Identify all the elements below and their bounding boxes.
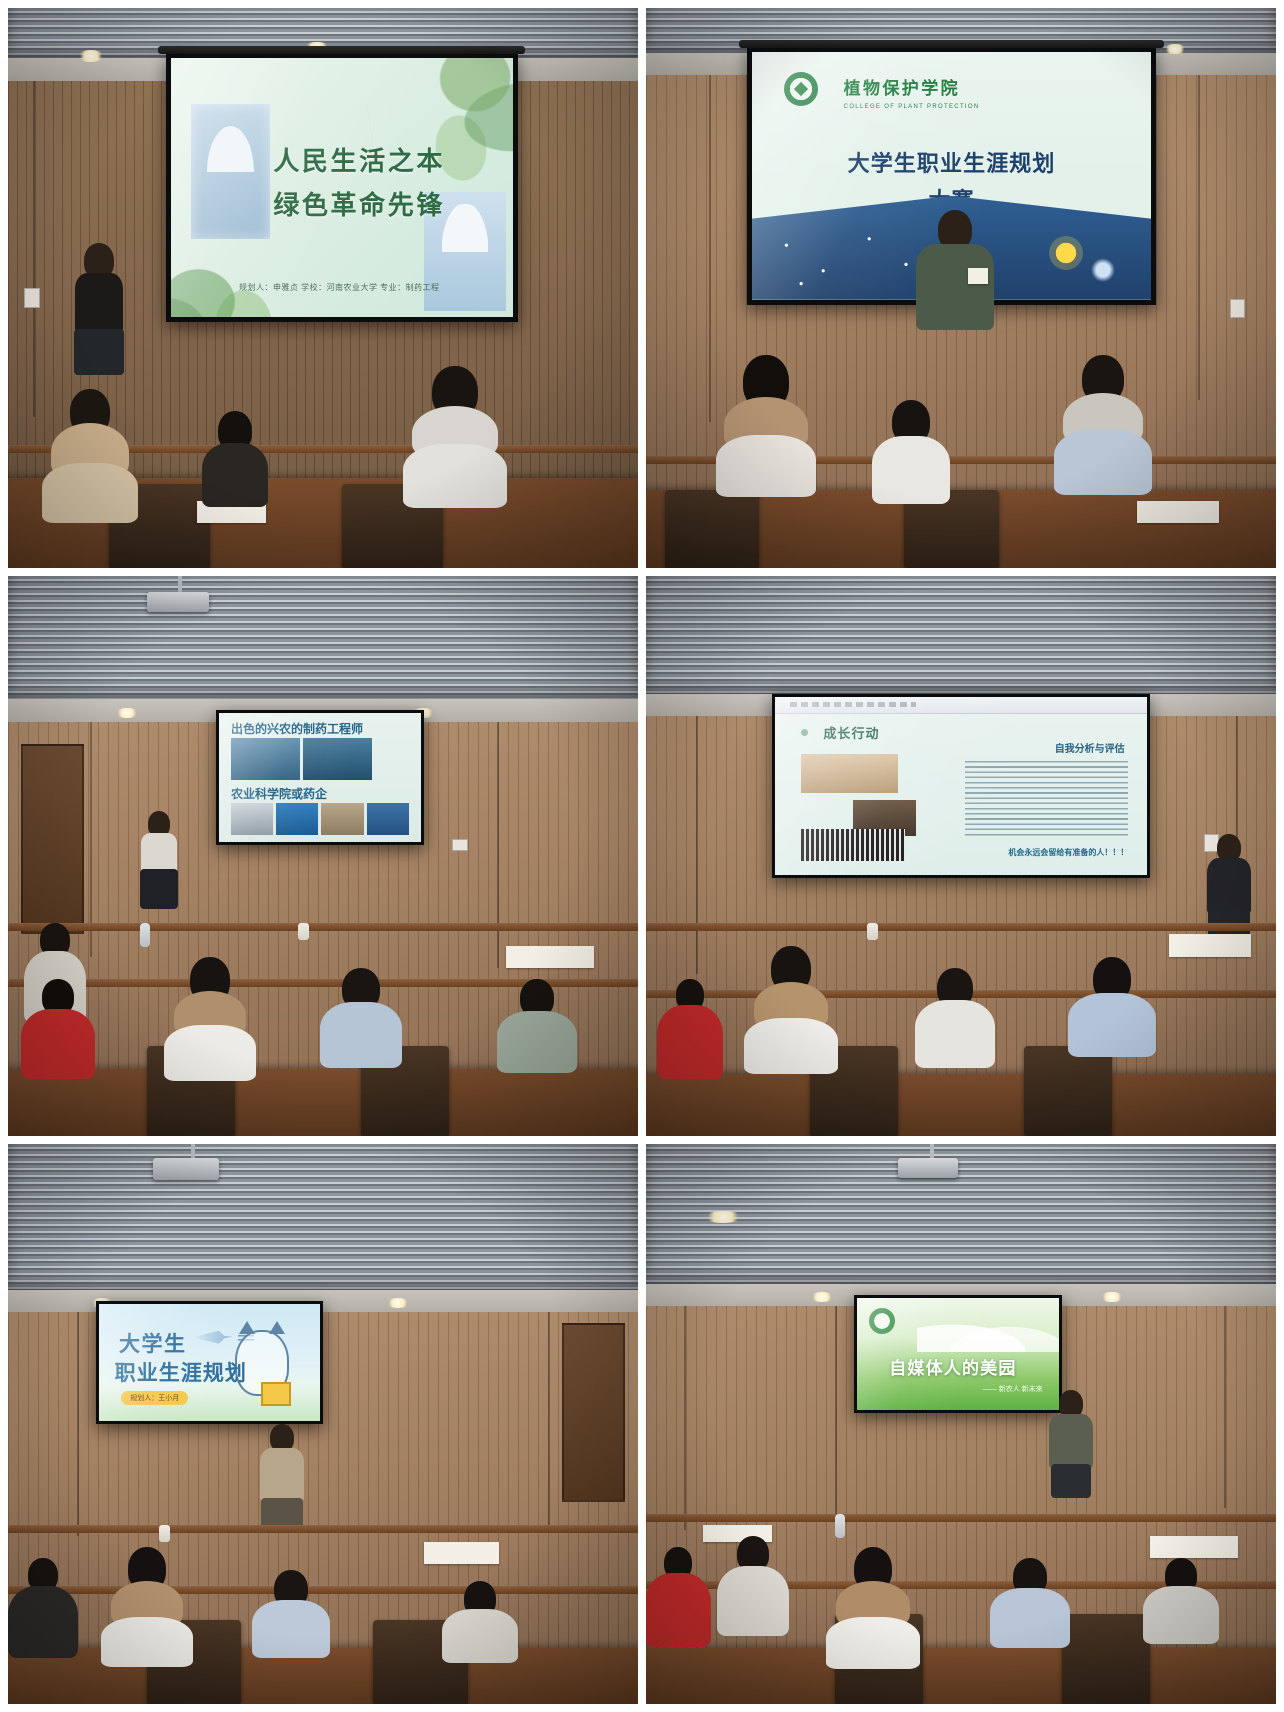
- desk-row: [646, 923, 1276, 931]
- suitcase-icon: [261, 1382, 291, 1406]
- desk-row: [8, 1525, 638, 1533]
- presenter-toolbar: [775, 697, 1147, 714]
- photo-row: [231, 738, 372, 780]
- projection-screen: 人民生活之本 绿色革命先锋 规划人：申雅贞 学校：河南农业大学 专业：制药工程: [166, 53, 519, 322]
- water-bottle: [835, 1514, 845, 1538]
- slide-photo: [801, 829, 905, 861]
- slide-heading: 成长行动: [823, 723, 879, 742]
- door[interactable]: [562, 1323, 625, 1502]
- slide-footnote: 机会永远会留给有准备的人！！！: [1008, 847, 1128, 858]
- audience-member: [178, 411, 291, 568]
- photo-panel-6[interactable]: 绿色田园背景的自媒体人主题汇报 自媒体人的美园 —— 新农人 新未来: [646, 1144, 1276, 1704]
- projection-screen: 大学生 职业生涯规划 规划人：王小月: [96, 1301, 323, 1424]
- projector: [153, 1158, 219, 1180]
- audience-member: [646, 979, 734, 1136]
- photo-grid: 女学生在讲台前作人民生活之本绿色革命先锋主题汇报 人民生活之本 绿色革命先锋 规…: [0, 0, 1284, 1712]
- slide-author-badge: 规划人：王小月: [121, 1391, 188, 1405]
- speaker-female-dark-suit: [1194, 834, 1263, 1002]
- audience-member: [1049, 957, 1175, 1136]
- slide-title-line2: 绿色革命先锋: [273, 185, 445, 222]
- desk-row: [8, 923, 638, 931]
- cup: [298, 923, 309, 940]
- wall-seam: [33, 81, 35, 417]
- audience-member: [8, 1558, 90, 1704]
- org-name-cn: 植物保护学院: [844, 74, 960, 99]
- photo-panel-4[interactable]: 成长行动自我分析与评估页面展示 成长行动 自我分析与评估 机会永远会留给有准备的…: [646, 576, 1276, 1136]
- projection-screen: 成长行动 自我分析与评估 机会永远会留给有准备的人！！！: [772, 694, 1150, 879]
- audience-member: [235, 1570, 348, 1704]
- ceiling: [8, 1144, 638, 1290]
- audience-member: [1125, 1558, 1238, 1704]
- handout-paper: [1169, 934, 1251, 956]
- handout-paper: [1150, 1536, 1238, 1558]
- slide-title-line2: 职业生涯规划: [115, 1357, 247, 1387]
- wall-seam: [548, 1312, 550, 1525]
- speaker-presenter-right: [1037, 1390, 1106, 1558]
- cup: [867, 923, 878, 940]
- slide-title-line1: 出色的兴农的制药工程师: [231, 720, 363, 737]
- wall-seam: [696, 716, 698, 974]
- audience-member: [854, 400, 967, 568]
- audience-member: [424, 1581, 537, 1704]
- slide-photo: [801, 754, 898, 793]
- wall-seam: [77, 1312, 79, 1536]
- wall-seam: [1198, 75, 1200, 400]
- slide-growth-action: 成长行动 自我分析与评估 机会永远会留给有准备的人！！！: [775, 697, 1147, 876]
- audience-member: [1037, 355, 1169, 568]
- slide-subtitle: —— 新农人 新未来: [983, 1384, 1043, 1394]
- audience-member: [703, 1536, 804, 1704]
- school-logo-icon: [784, 72, 818, 106]
- downlight: [386, 1298, 410, 1308]
- landscape-decoration-icon: [917, 1312, 1058, 1352]
- building-photo: [191, 104, 270, 239]
- slide-body-text: [965, 761, 1129, 836]
- slide-title-line2: 农业科学院或药企: [231, 785, 327, 802]
- slide-career-plan-cat: 大学生 职业生涯规划 规划人：王小月: [99, 1304, 320, 1421]
- photo-collage: 女学生在讲台前作人民生活之本绿色革命先锋主题汇报 人民生活之本 绿色革命先锋 规…: [0, 0, 1284, 1712]
- audience-member: [8, 979, 109, 1136]
- audience-member: [898, 968, 1011, 1136]
- photo-panel-5[interactable]: 女学生在卡通猫主题职业规划封面旁候场 大学生 职业生涯规划 规划人：王小月: [8, 1144, 638, 1704]
- slide-self-media: 自媒体人的美园 —— 新农人 新未来: [857, 1298, 1059, 1410]
- slide-title-line1: 大学生: [119, 1328, 186, 1358]
- audience-member: [810, 1547, 936, 1704]
- audience-member: [147, 957, 273, 1136]
- paper-plane-icon: [196, 1331, 232, 1344]
- audience-member: [386, 366, 525, 568]
- projection-screen: 自媒体人的美园 —— 新农人 新未来: [854, 1295, 1062, 1413]
- photo-panel-1[interactable]: 女学生在讲台前作人民生活之本绿色革命先锋主题汇报 人民生活之本 绿色革命先锋 规…: [8, 8, 638, 568]
- audience-member: [974, 1558, 1087, 1704]
- audience-member: [474, 979, 600, 1136]
- wall-socket: [1230, 299, 1245, 318]
- speaker-female-white-top: [121, 811, 197, 979]
- projector: [147, 592, 209, 612]
- handout-paper: [424, 1542, 500, 1564]
- org-name-en: COLLEGE OF PLANT PROTECTION: [844, 104, 980, 110]
- projection-screen: 出色的兴农的制药工程师 农业科学院或药企: [216, 710, 424, 844]
- wall-seam: [684, 1306, 686, 1530]
- downlight: [115, 708, 139, 718]
- ceiling: [8, 576, 638, 699]
- water-bottle: [140, 923, 150, 947]
- audience-member: [84, 1547, 210, 1704]
- wall-socket: [24, 288, 40, 308]
- slide-title-line1: 大学生职业生涯规划: [752, 146, 1152, 178]
- slide-pharma-engineer: 出色的兴农的制药工程师 农业科学院或药企: [219, 713, 421, 841]
- wall-seam: [90, 722, 92, 957]
- slide-subheading: 自我分析与评估: [1055, 740, 1125, 755]
- audience-member: [21, 389, 160, 568]
- wall-socket: [452, 839, 468, 851]
- cup: [159, 1525, 170, 1542]
- slide-subtitle: 规划人：申雅贞 学校：河南农业大学 专业：制药工程: [239, 282, 439, 293]
- handout-paper: [506, 946, 594, 968]
- door[interactable]: [21, 744, 84, 934]
- audience-member: [304, 968, 417, 1136]
- wall-seam: [835, 1306, 837, 1519]
- photo-row: [231, 803, 409, 835]
- photo-panel-3[interactable]: 女学生站在讲台旁介绍制药工程师职业方向 出色的兴农的制药工程师 农业科学院或药企: [8, 576, 638, 1136]
- desk-row: [646, 1514, 1276, 1522]
- projector: [898, 1158, 958, 1178]
- slide-people-life: 人民生活之本 绿色革命先锋 规划人：申雅贞 学校：河南农业大学 专业：制药工程: [171, 58, 514, 317]
- ceiling: [646, 576, 1276, 694]
- speaker-female-beige-coat: [247, 1424, 316, 1592]
- bullet-icon: [801, 729, 808, 736]
- audience-member: [728, 946, 854, 1136]
- slide-title-line1: 人民生活之本: [273, 141, 445, 178]
- audience-member: [696, 355, 835, 568]
- school-logo-icon: [869, 1308, 895, 1334]
- slide-title: 自媒体人的美园: [889, 1354, 1016, 1379]
- photo-panel-2[interactable]: 男学生手持讲稿在屏幕前宣讲 植物保护学院 COLLEGE OF PLANT PR…: [646, 8, 1276, 568]
- wall-seam: [1224, 1306, 1226, 1508]
